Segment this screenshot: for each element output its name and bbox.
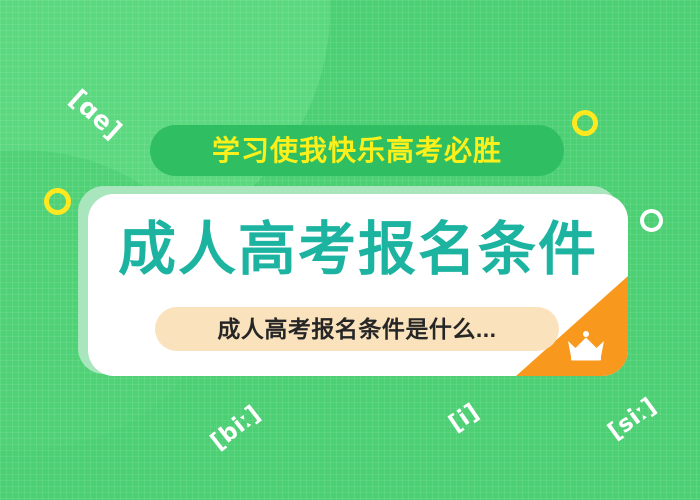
subtitle-pill: 成人高考报名条件是什么...: [155, 307, 559, 351]
ring-yellow-left-icon: [44, 188, 71, 215]
subtitle-text: 成人高考报名条件是什么...: [217, 318, 496, 341]
banner-pill-text: 学习使我快乐高考必胜: [212, 137, 502, 165]
poster-canvas: [ɑe] [biː] [i] [siː] 学习使我快乐高考必胜 成人高考报名条件…: [0, 0, 700, 500]
main-card: 成人高考报名条件 成人高考报名条件是什么...: [88, 194, 628, 376]
crown-icon: [566, 330, 606, 362]
page-title: 成人高考报名条件: [88, 221, 628, 279]
ring-yellow-right-icon: [572, 110, 598, 136]
banner-pill: 学习使我快乐高考必胜: [150, 125, 564, 176]
ring-white-icon: [640, 209, 663, 232]
